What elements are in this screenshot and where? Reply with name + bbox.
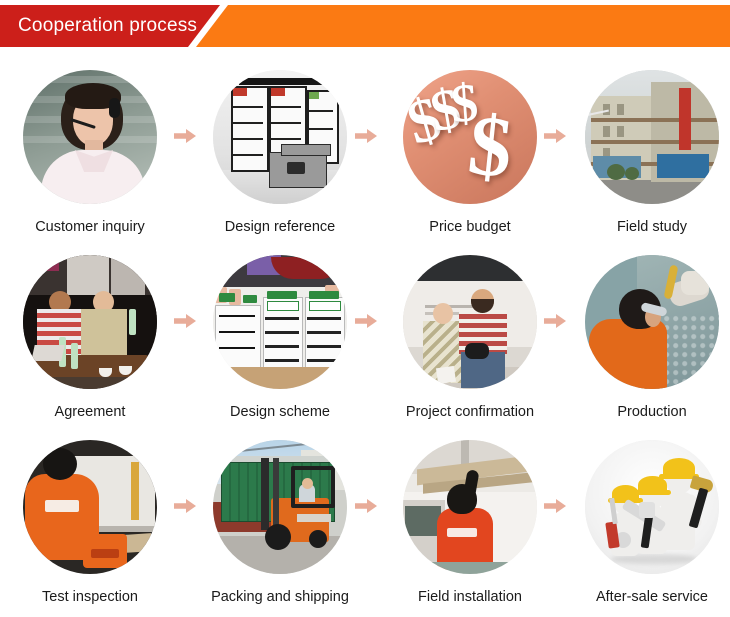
step-label: Test inspection xyxy=(2,588,178,606)
step-label: Project confirmation xyxy=(382,403,558,421)
arrow-right-icon xyxy=(544,498,566,514)
process-row-3: Test inspection xyxy=(0,425,730,610)
process-row-1: Customer inquiry xyxy=(0,55,730,240)
process-step-customer-inquiry[interactable]: Customer inquiry xyxy=(2,55,178,236)
arrow-right-icon xyxy=(544,128,566,144)
step-label: Packing and shipping xyxy=(192,588,368,606)
process-step-production[interactable]: Production xyxy=(564,240,730,421)
step-label: Field study xyxy=(564,218,730,236)
customer-service-agent-photo xyxy=(23,70,157,204)
retail-shelving-showroom-photo xyxy=(213,70,347,204)
cooperation-process-grid: Customer inquiry xyxy=(0,55,730,610)
arrow-right-icon xyxy=(544,313,566,329)
process-step-price-budget[interactable]: $ $ $ $ Price budget xyxy=(382,55,558,236)
process-step-agreement[interactable]: Agreement xyxy=(2,240,178,421)
process-row-2: Agreement xyxy=(0,240,730,425)
process-step-packing-and-shipping[interactable]: Packing and shipping xyxy=(192,425,368,606)
quality-inspection-photo xyxy=(23,440,157,574)
process-step-field-installation[interactable]: Field installation xyxy=(382,425,558,606)
arrow-right-icon xyxy=(174,498,196,514)
dollar-sign-symbols-photo: $ $ $ $ xyxy=(403,70,537,204)
forklift-container-loading-photo xyxy=(213,440,347,574)
arrow-right-icon xyxy=(174,128,196,144)
process-step-design-scheme[interactable]: Design scheme xyxy=(192,240,368,421)
process-step-test-inspection[interactable]: Test inspection xyxy=(2,425,178,606)
factory-worker-photo xyxy=(585,255,719,389)
process-step-design-reference[interactable]: Design reference xyxy=(192,55,368,236)
step-label: Design scheme xyxy=(192,403,368,421)
arrow-right-icon xyxy=(355,313,377,329)
step-label: Field installation xyxy=(382,588,558,606)
arrow-right-icon xyxy=(174,313,196,329)
step-label: Production xyxy=(564,403,730,421)
banner-red-shape: Cooperation process xyxy=(0,5,220,47)
onsite-installation-photo xyxy=(403,440,537,574)
clients-handshake-photo: Google xyxy=(403,255,537,389)
banner-orange-shape xyxy=(196,5,730,47)
step-label: Design reference xyxy=(192,218,368,236)
arrow-right-icon xyxy=(355,128,377,144)
step-label: After-sale service xyxy=(564,588,730,606)
page-header-banner: Cooperation process xyxy=(0,5,730,47)
step-label: Customer inquiry xyxy=(2,218,178,236)
step-label: Agreement xyxy=(2,403,178,421)
step-label: Price budget xyxy=(382,218,558,236)
storefront-building-photo xyxy=(585,70,719,204)
service-team-tools-icon xyxy=(585,440,719,574)
process-step-field-study[interactable]: Field study xyxy=(564,55,730,236)
page-title: Cooperation process xyxy=(0,15,197,37)
pharmacy-display-shelves-photo xyxy=(213,255,347,389)
clients-meeting-photo xyxy=(23,255,157,389)
process-step-after-sale-service[interactable]: After-sale service xyxy=(564,425,730,606)
process-step-project-confirmation[interactable]: Google Project confirmation xyxy=(382,240,558,421)
arrow-right-icon xyxy=(355,498,377,514)
